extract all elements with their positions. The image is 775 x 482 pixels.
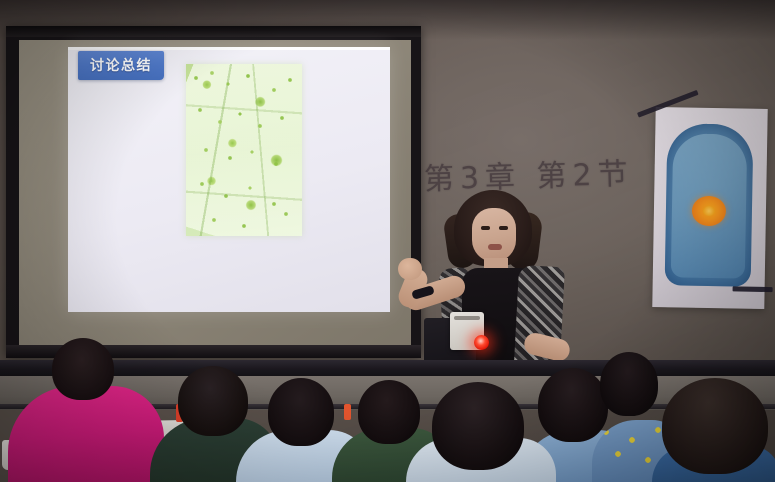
teacher-mouth [488,244,502,250]
teacher-eye-right [499,226,508,230]
cell-diagram-poster [652,107,767,309]
student-pink-hoodie-body [8,386,164,482]
poster-tape-bottom-right [733,286,773,292]
student-dark-green-jacket-head [178,366,248,436]
device-led-indicator [474,335,489,350]
orange-marker [344,404,351,420]
student-navy-top-head [662,378,768,474]
poster-cell-shape [665,123,754,286]
student-blue-shirt-head [538,368,608,442]
device-slot [454,316,480,320]
wall-ledge-rail [0,360,775,376]
student-patterned-blue-top-head [600,352,658,416]
student-pink-hoodie-head [52,338,114,400]
micrograph-chloroplasts [186,64,302,236]
slide-title-tab: 讨论总结 [78,51,164,80]
plant-cell-micrograph-image [186,64,302,236]
screen-top-rail [6,26,421,37]
classroom-photo: 第3章 第2节 讨论总结 [0,0,775,482]
poster-nucleolus [703,206,715,216]
teacher-eye-left [481,226,490,230]
student-white-top-head [432,382,524,470]
student-light-blue-hoodie-head [268,378,334,446]
teacher-hand [398,258,422,280]
slide-title-text: 讨论总结 [90,58,152,74]
teacher-face [472,208,516,262]
slide-top-accent-line [68,47,390,50]
student-green-jacket-head [358,380,420,444]
